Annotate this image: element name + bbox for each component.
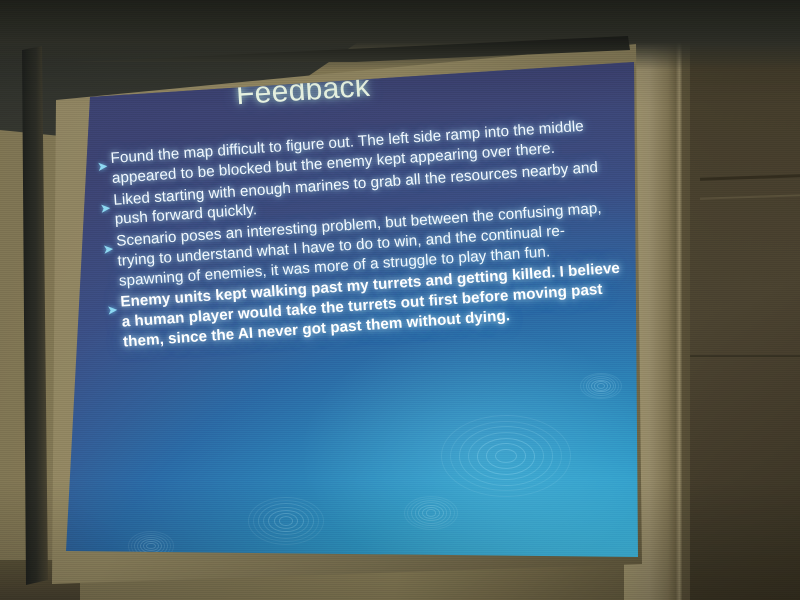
wall-seam-lower: [690, 355, 800, 357]
wall-column-edge: [676, 0, 683, 600]
photograph-scene: Feedback ➤ Found the map difficult to fi…: [0, 0, 800, 600]
wall-right-shadow: [690, 0, 800, 600]
